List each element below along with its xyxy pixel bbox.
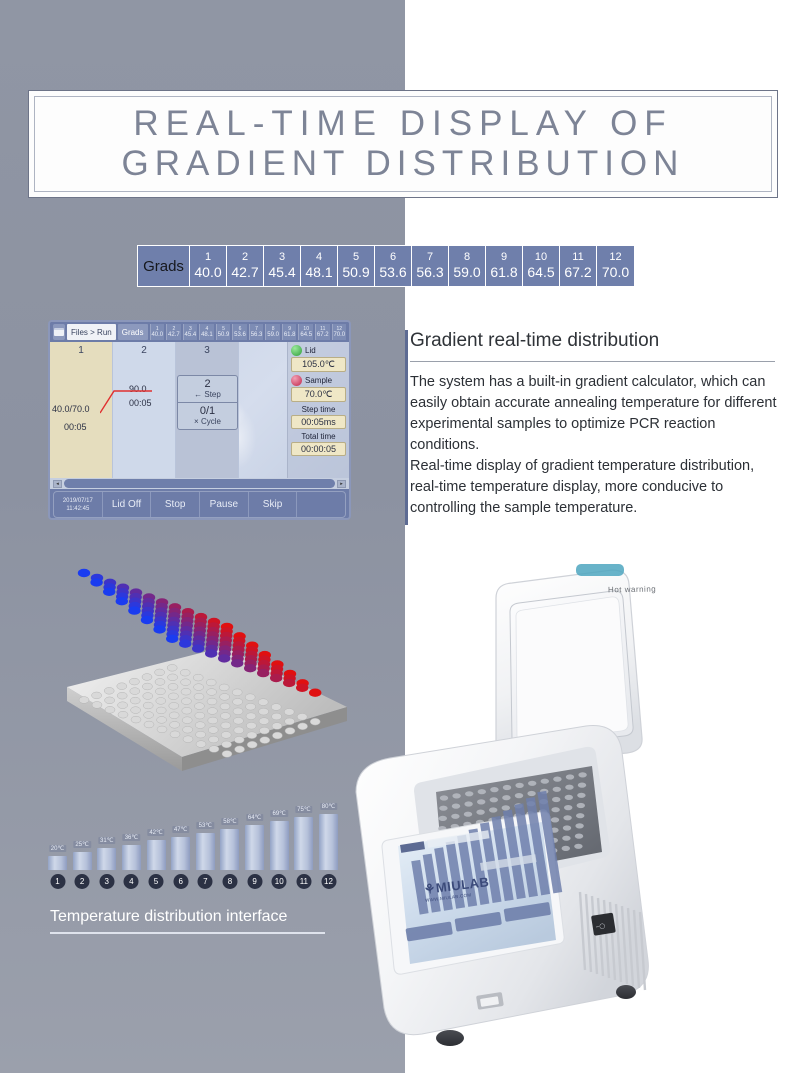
- scrollbar-thumb[interactable]: [64, 479, 335, 488]
- plate-gradient-dot: [153, 625, 165, 633]
- plate-tube: [168, 683, 178, 690]
- bar: 25℃: [73, 852, 92, 870]
- plate-tube: [182, 717, 192, 724]
- bar-value-label: 36℃: [123, 834, 140, 841]
- plate-tube: [259, 718, 269, 725]
- heating-block-well: [578, 772, 586, 777]
- heating-block-well: [440, 795, 448, 800]
- step-counter-label: ← Step: [178, 390, 237, 400]
- bar-column: 53℃7: [196, 833, 215, 870]
- step-cycle-control[interactable]: 2 ← Step 0/1 × Cycle: [177, 375, 238, 430]
- pcr-grads-cell: 5 50.9: [216, 324, 231, 340]
- pcr-touchscreen-ui: Files > Run Grads 1 40.0 2 42.7 3 45.4 4…: [48, 320, 351, 520]
- plate-tube: [222, 741, 232, 748]
- step-time-label: Step time: [291, 405, 346, 414]
- plate-tube: [258, 699, 268, 706]
- pcr-grads-value: 50.9: [218, 332, 230, 339]
- step-1-temperature: 40.0/70.0: [52, 404, 90, 414]
- scroll-left-button[interactable]: ◂: [53, 480, 62, 488]
- pause-button[interactable]: Pause: [200, 492, 249, 517]
- plate-tube: [285, 718, 295, 725]
- plate-tube: [272, 723, 282, 730]
- plate-tube: [247, 741, 257, 748]
- heating-block-well: [490, 797, 498, 802]
- step-counter-label-text: Step: [204, 390, 220, 399]
- bar-value-label: 64℃: [246, 814, 263, 821]
- plate-tube: [129, 678, 139, 685]
- plate-tube: [233, 717, 243, 724]
- plate-tube: [131, 716, 141, 723]
- heating-block-well: [578, 783, 586, 788]
- heating-block-well: [515, 793, 523, 798]
- plate-tube: [183, 736, 193, 743]
- plate-gradient-dot: [283, 679, 295, 687]
- grads-column-value: 67.2: [564, 264, 591, 281]
- heating-block-well: [566, 774, 574, 779]
- bar-column: 36℃4: [122, 845, 141, 870]
- stop-button[interactable]: Stop: [151, 492, 200, 517]
- grads-column-index: 6: [390, 251, 396, 264]
- pcr-grads-cell: 4 48.1: [199, 324, 214, 340]
- pcr-grads-value: 48.1: [201, 332, 213, 339]
- grads-table: Grads 1 40.0 2 42.7 3 45.4 4 48.1 5 50.9…: [137, 245, 635, 287]
- plate-tube: [167, 664, 177, 671]
- plate-tube: [182, 707, 192, 714]
- pcr-grads-cell: 7 56.3: [249, 324, 264, 340]
- plate-tube: [208, 727, 218, 734]
- program-step-3[interactable]: 3 2 ← Step 0/1 × Cycle: [176, 342, 239, 478]
- program-empty-area: [239, 342, 287, 478]
- right-panel-paragraph-1: The system has a built-in gradient calcu…: [410, 372, 778, 456]
- bar: 42℃: [147, 840, 166, 870]
- grads-column: 7 56.3: [412, 246, 449, 286]
- plate-tube: [285, 728, 295, 735]
- right-panel-paragraph-2: Real-time display of gradient temperatur…: [410, 456, 778, 519]
- grads-column: 9 61.8: [486, 246, 523, 286]
- well-plate-illustration: [62, 535, 352, 775]
- plate-tube: [196, 741, 206, 748]
- right-panel-accent-bar: [405, 330, 408, 525]
- bar-column: 42℃5: [147, 840, 166, 870]
- plate-tube: [169, 712, 179, 719]
- grads-column-index: 5: [353, 251, 359, 264]
- bar: 75℃: [294, 817, 313, 870]
- grads-column-value: 61.8: [490, 264, 517, 281]
- grads-column-value: 48.1: [305, 264, 332, 281]
- step-counter-row[interactable]: 2 ← Step: [178, 376, 237, 402]
- plate-tube: [155, 679, 165, 686]
- bar-value-label: 31℃: [98, 837, 115, 844]
- bar-index-badge: 8: [222, 874, 237, 889]
- heating-block-well: [576, 813, 584, 818]
- plate-gradient-dot: [103, 588, 115, 596]
- plate-tube: [180, 669, 190, 676]
- plate-gradient-dot: [128, 606, 140, 614]
- heating-block-well: [503, 785, 511, 790]
- grads-column-value: 40.0: [194, 264, 221, 281]
- plate-tube: [234, 736, 244, 743]
- plate-gradient-dot: [179, 640, 191, 648]
- heating-block-well: [489, 807, 497, 812]
- plate-tube: [117, 692, 127, 699]
- pcr-grads-value: 59.0: [267, 332, 279, 339]
- plate-tube: [194, 703, 204, 710]
- poster-page: Real-time display of Gradient distributi…: [0, 0, 805, 1073]
- plate-tube: [310, 718, 320, 725]
- datetime-display: 2019/07/17 11:42:45: [54, 492, 103, 517]
- cycle-counter-row[interactable]: 0/1 × Cycle: [178, 402, 237, 429]
- plate-gradient-dot: [90, 578, 102, 586]
- grads-column-index: 10: [535, 251, 547, 264]
- plate-gradient-dot: [257, 669, 269, 677]
- plate-gradient-dot: [296, 684, 308, 692]
- plate-tube: [118, 702, 128, 709]
- pcr-grads-value: 53.6: [234, 332, 246, 339]
- plate-tube: [130, 697, 140, 704]
- plate-tube: [298, 723, 308, 730]
- grads-column: 3 45.4: [264, 246, 301, 286]
- heating-block-well: [477, 799, 485, 804]
- grads-column-value: 64.5: [527, 264, 554, 281]
- bar-value-label: 42℃: [147, 829, 164, 836]
- heating-block-well: [565, 795, 573, 800]
- grads-column-index: 1: [205, 251, 211, 264]
- pcr-grads-cell: 3 45.4: [183, 324, 198, 340]
- horizontal-scrollbar[interactable]: ◂ ▸: [50, 478, 349, 489]
- cycle-counter-label: × Cycle: [178, 417, 237, 427]
- sample-label: Sample: [305, 376, 332, 385]
- heating-block-well: [464, 812, 472, 817]
- plate-tube: [246, 722, 256, 729]
- pcr-program-area: 1 40.0/70.0 00:05 2 90.0 00:05 3 2 ← Ste…: [50, 342, 349, 478]
- heating-block-well: [451, 814, 459, 819]
- machine-body: –○: [356, 726, 648, 1046]
- time-text: 11:42:45: [66, 505, 89, 513]
- plate-tube: [92, 702, 102, 709]
- plate-gradient-dot: [309, 689, 321, 697]
- plate-tube: [297, 713, 307, 720]
- heating-block-well: [562, 836, 570, 841]
- date-text: 2019/07/17: [63, 497, 93, 505]
- plate-gradient-dot: [270, 674, 282, 682]
- bar: 69℃: [270, 821, 289, 870]
- heating-block-well: [464, 801, 472, 806]
- temperature-chart-caption: Temperature distribution interface: [50, 908, 325, 934]
- bar-value-label: 25℃: [73, 841, 90, 848]
- plate-tube: [118, 711, 128, 718]
- plate-tube: [156, 698, 166, 705]
- plate-gradient-dot: [116, 597, 128, 605]
- svg-text:–○: –○: [595, 922, 606, 931]
- bar-index-badge: 5: [149, 874, 164, 889]
- lid-off-button[interactable]: Lid Off: [103, 492, 152, 517]
- bar-column: 64℃9: [245, 825, 264, 870]
- plate-tube: [142, 683, 152, 690]
- grads-column-value: 42.7: [231, 264, 258, 281]
- total-time-label: Total time: [291, 432, 346, 441]
- heating-block-well: [502, 795, 510, 800]
- plate-tube: [221, 722, 231, 729]
- bar: 36℃: [122, 845, 141, 870]
- bar-index-badge: 4: [124, 874, 139, 889]
- lid-status-row: Lid: [291, 345, 346, 356]
- sample-temperature-value: 70.0℃: [291, 387, 346, 402]
- grads-column-value: 53.6: [379, 264, 406, 281]
- bar-index-badge: 1: [50, 874, 65, 889]
- bar-value-label: 53℃: [197, 822, 214, 829]
- tab-files-run[interactable]: Files > Run: [67, 324, 116, 340]
- plate-tube: [221, 732, 231, 739]
- bar-value-label: 69℃: [271, 810, 288, 817]
- step-counter-value: 2: [178, 378, 237, 390]
- heating-block-well: [528, 781, 536, 786]
- bar-column: 58℃8: [220, 829, 239, 870]
- scroll-right-button[interactable]: ▸: [337, 480, 346, 488]
- toolbar-empty-cell: [297, 492, 345, 517]
- skip-button[interactable]: Skip: [249, 492, 298, 517]
- grads-column: 6 53.6: [375, 246, 412, 286]
- plate-tube: [209, 746, 219, 753]
- plate-tube: [131, 707, 141, 714]
- grads-column-value: 70.0: [602, 264, 629, 281]
- grads-column-index: 8: [464, 251, 470, 264]
- bar: 58℃: [220, 829, 239, 870]
- plate-tube: [194, 693, 204, 700]
- grads-column-index: 11: [572, 251, 583, 264]
- grads-column-index: 12: [609, 251, 621, 264]
- plate-tube: [209, 736, 219, 743]
- grads-table-label: Grads: [138, 246, 190, 286]
- heating-block-well: [565, 785, 573, 790]
- hot-warning-label: Hot warning: [608, 585, 656, 595]
- pcr-status-sidebar: Lid 105.0℃ Sample 70.0℃ Step time 00:05m…: [287, 342, 349, 478]
- heating-block-well: [490, 787, 498, 792]
- pcr-grads-cell: 2 42.7: [166, 324, 181, 340]
- pcr-grads-value: 42.7: [168, 332, 180, 339]
- tab-grads[interactable]: Grads: [118, 324, 148, 340]
- bar-value-label: 47℃: [172, 826, 189, 833]
- heating-block-well: [502, 805, 510, 810]
- bar-column: 25℃2: [73, 852, 92, 870]
- bar-value-label: 20℃: [49, 845, 66, 852]
- heating-block-well: [452, 793, 460, 798]
- grads-column: 4 48.1: [301, 246, 338, 286]
- heating-block-well: [553, 787, 561, 792]
- lid-label: Lid: [305, 346, 316, 355]
- heating-block-well: [577, 793, 585, 798]
- bar-column: 69℃10: [270, 821, 289, 870]
- pcr-grads-cell: 11 67.2: [315, 324, 330, 340]
- bar-index-badge: 11: [296, 874, 311, 889]
- plate-tube: [222, 751, 232, 758]
- plate-tube: [168, 693, 178, 700]
- bar-index-badge: 9: [247, 874, 262, 889]
- heating-block-well: [541, 779, 549, 784]
- plate-tube: [117, 683, 127, 690]
- temperature-bar-chart: 20℃125℃231℃336℃442℃547℃653℃758℃864℃969℃1…: [48, 808, 338, 890]
- heating-block-well: [552, 797, 560, 802]
- pcr-machine-illustration: –○: [330, 540, 805, 1060]
- bar-column: 47℃6: [171, 837, 190, 870]
- plate-tube: [143, 702, 153, 709]
- plate-tube: [195, 712, 205, 719]
- grads-column-index: 7: [427, 251, 433, 264]
- grads-column: 11 67.2: [560, 246, 597, 286]
- plate-tube: [207, 708, 217, 715]
- bar: 47℃: [171, 837, 190, 870]
- plate-tube: [272, 732, 282, 739]
- plate-tube: [194, 684, 204, 691]
- right-panel-body: The system has a built-in gradient calcu…: [410, 372, 778, 519]
- heating-block-well: [515, 783, 523, 788]
- total-time-value: 00:00:05: [291, 442, 346, 456]
- plate-gradient-dot: [78, 569, 90, 577]
- plate-tube: [234, 727, 244, 734]
- plate-tube: [79, 697, 89, 704]
- heating-block-well: [551, 807, 559, 812]
- plate-tube: [259, 727, 269, 734]
- plate-tube: [284, 709, 294, 716]
- grads-column-value: 45.4: [268, 264, 295, 281]
- pcr-grads-value: 61.8: [284, 332, 296, 339]
- heating-block-well: [564, 805, 572, 810]
- pcr-bottom-toolbar: 2019/07/17 11:42:45 Lid Off Stop Pause S…: [53, 491, 346, 518]
- heating-block-well: [575, 834, 583, 839]
- step-1-time: 00:05: [64, 422, 87, 432]
- step-2-header: 2: [113, 342, 175, 356]
- plate-gradient-dot: [141, 616, 153, 624]
- step-1-header: 1: [50, 342, 112, 356]
- grads-column-value: 50.9: [342, 264, 369, 281]
- heating-block-well: [465, 791, 473, 796]
- plate-tube: [246, 703, 256, 710]
- plate-tube: [207, 689, 217, 696]
- bar: 31℃: [97, 848, 116, 870]
- bar-value-label: 58℃: [221, 818, 238, 825]
- lid-temperature-value: 105.0℃: [291, 357, 346, 372]
- plate-tube: [144, 712, 154, 719]
- cycle-counter-value: 0/1: [178, 405, 237, 417]
- step-3-header: 3: [176, 342, 238, 356]
- grads-column: 10 64.5: [523, 246, 560, 286]
- grads-column-index: 9: [501, 251, 507, 264]
- plate-gradient-dot: [166, 635, 178, 643]
- grads-column-value: 59.0: [453, 264, 480, 281]
- grads-column: 2 42.7: [227, 246, 264, 286]
- pcr-grads-cell: 1 40.0: [150, 324, 165, 340]
- plate-tube: [259, 708, 269, 715]
- plate-tube: [271, 704, 281, 711]
- right-panel-heading: Gradient real-time distribution: [410, 330, 775, 362]
- plate-tube: [143, 693, 153, 700]
- pcr-grads-cell: 8 59.0: [265, 324, 280, 340]
- bar-index-badge: 2: [75, 874, 90, 889]
- plate-tube: [272, 713, 282, 720]
- heating-block-well: [562, 846, 570, 851]
- bar: 20℃: [48, 856, 67, 870]
- plate-tube: [220, 694, 230, 701]
- plate-gradient-dot: [192, 644, 204, 652]
- grads-column: 12 70.0: [597, 246, 634, 286]
- plate-tube: [246, 713, 256, 720]
- temperature-ramp-line: [100, 388, 152, 414]
- heating-block-well: [577, 803, 585, 808]
- sample-status-row: Sample: [291, 375, 346, 386]
- plate-tube: [170, 721, 180, 728]
- plate-tube: [233, 698, 243, 705]
- grads-column: 8 59.0: [449, 246, 486, 286]
- step-time-value: 00:05ms: [291, 415, 346, 429]
- page-title-box: Real-time display of Gradient distributi…: [28, 90, 778, 198]
- heating-block-well: [476, 810, 484, 815]
- plate-tube: [220, 703, 230, 710]
- heating-block-well: [574, 844, 582, 849]
- plate-tube: [130, 688, 140, 695]
- bar-index-badge: 6: [173, 874, 188, 889]
- bar-column: 75℃11: [294, 817, 313, 870]
- pcr-grads-value: 45.4: [185, 332, 197, 339]
- plate-tube: [168, 674, 178, 681]
- plate-tube: [144, 721, 154, 728]
- bar: 53℃: [196, 833, 215, 870]
- bar: 64℃: [245, 825, 264, 870]
- pcr-grads-value: 67.2: [317, 332, 329, 339]
- bar-value-label: 75℃: [295, 806, 312, 813]
- heating-block-well: [575, 823, 583, 828]
- bar-index-badge: 7: [198, 874, 213, 889]
- plate-tube: [183, 726, 193, 733]
- plate-gradient-dot: [205, 649, 217, 657]
- plate-tube: [104, 687, 114, 694]
- plate-tube: [232, 689, 242, 696]
- plate-tube: [142, 674, 152, 681]
- heating-block-well: [452, 804, 460, 809]
- plate-tube: [195, 722, 205, 729]
- plate-tube: [235, 746, 245, 753]
- heating-block-well: [439, 816, 447, 821]
- page-title-line-1: Real-time display of: [133, 104, 672, 144]
- lid-status-indicator-icon: [291, 345, 302, 356]
- folder-icon[interactable]: [53, 324, 65, 340]
- plate-tube: [157, 717, 167, 724]
- grads-column-index: 4: [316, 251, 322, 264]
- pcr-grads-cell: 12 70.0: [332, 324, 347, 340]
- heating-block-well: [439, 806, 447, 811]
- plate-tube: [157, 726, 167, 733]
- plate-tube: [219, 684, 229, 691]
- plate-tube: [105, 697, 115, 704]
- plate-tube: [92, 692, 102, 699]
- sample-status-indicator-icon: [291, 375, 302, 386]
- grads-column: 5 50.9: [338, 246, 375, 286]
- bar-column: 31℃3: [97, 848, 116, 870]
- cycle-counter-label-text: Cycle: [201, 417, 221, 426]
- plate-tube: [181, 688, 191, 695]
- plate-tube: [233, 708, 243, 715]
- heating-block-well: [527, 791, 535, 796]
- pcr-grads-cell: 9 61.8: [282, 324, 297, 340]
- grads-column: 1 40.0: [190, 246, 227, 286]
- page-title-inner-frame: Real-time display of Gradient distributi…: [34, 96, 772, 192]
- plate-tube: [247, 732, 257, 739]
- grads-column-index: 3: [279, 251, 285, 264]
- heating-block-well: [551, 817, 559, 822]
- plate-tube: [245, 694, 255, 701]
- plate-tube: [155, 669, 165, 676]
- heating-block-well: [478, 789, 486, 794]
- plate-tube: [181, 698, 191, 705]
- plate-tube: [155, 688, 165, 695]
